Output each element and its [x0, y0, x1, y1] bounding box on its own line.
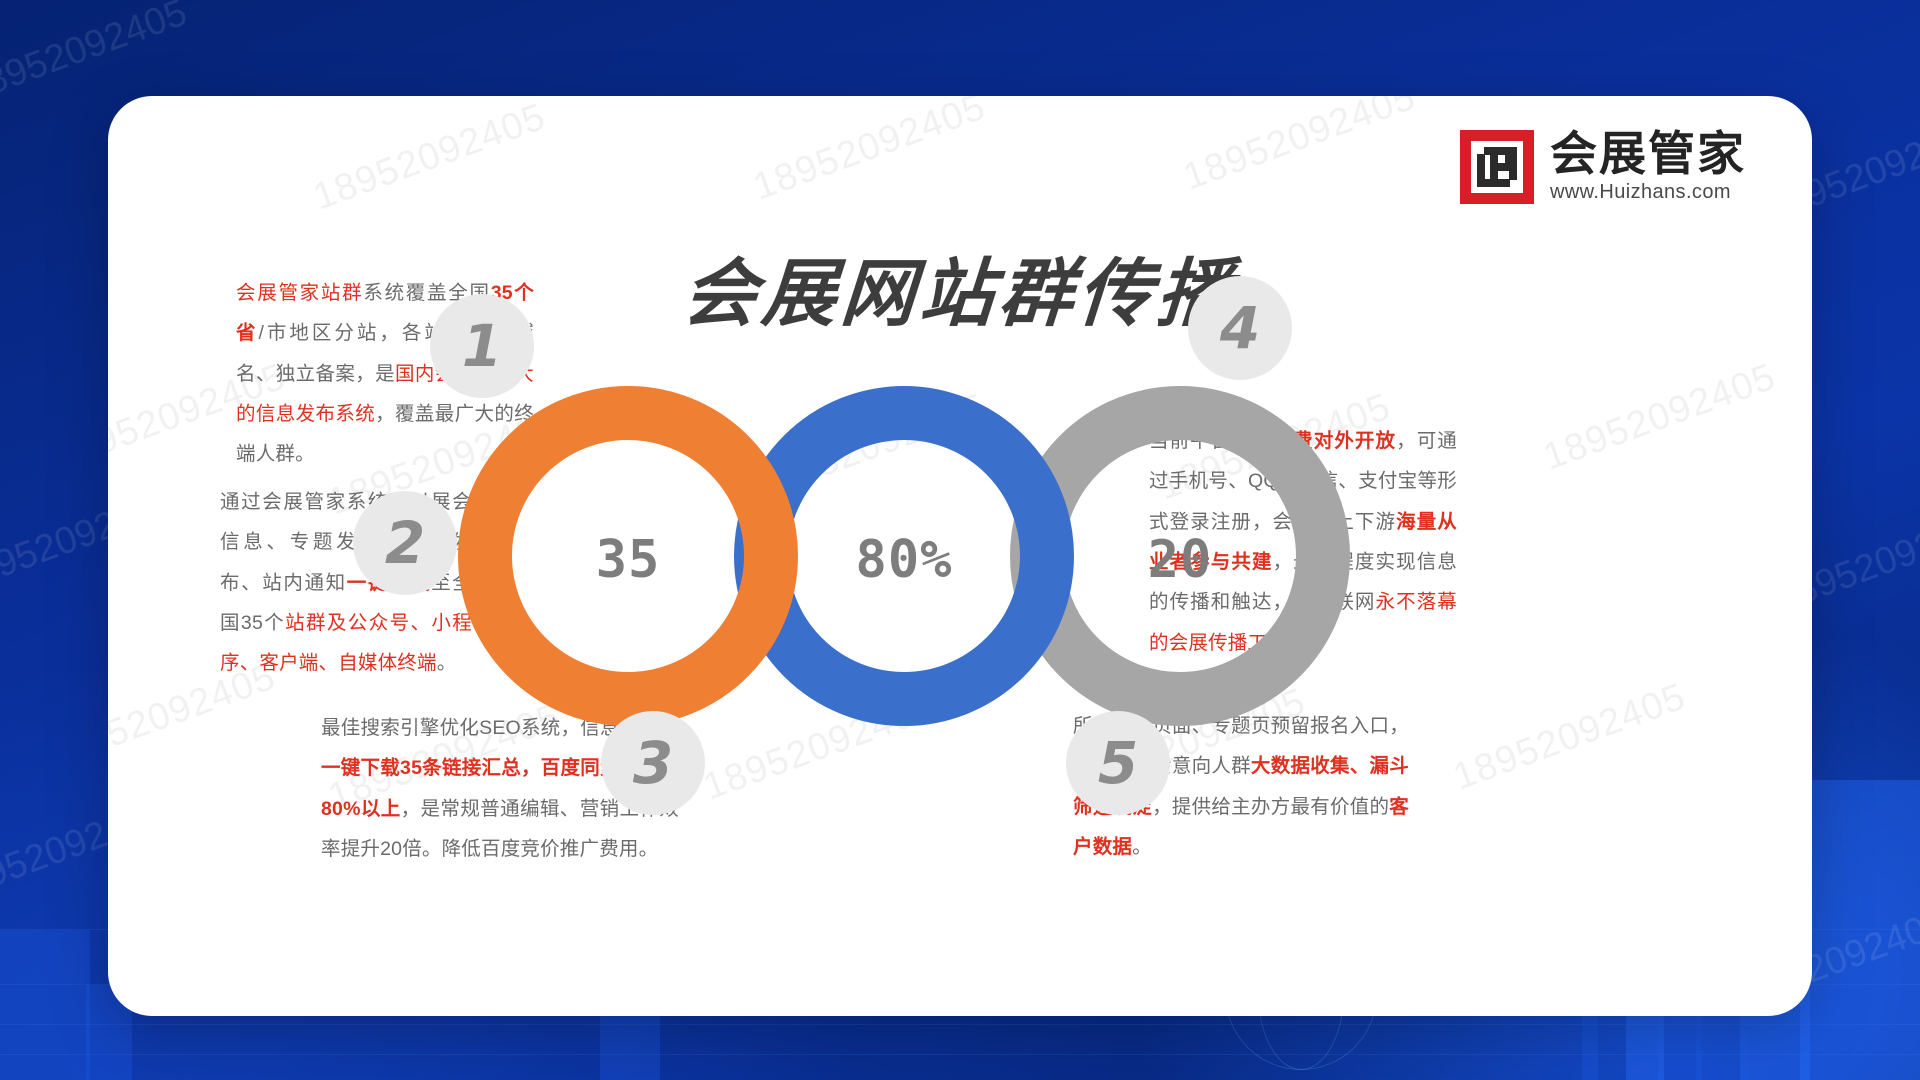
watermark: 18952092405 — [1538, 356, 1782, 480]
watermark: 18952092405 — [1448, 676, 1692, 800]
skyline-shape — [1800, 780, 1920, 1080]
skyline-shape — [0, 930, 90, 1080]
step-badge-5[interactable]: 5 — [1066, 711, 1170, 815]
ring-value-gray: 20 — [1064, 530, 1296, 590]
step-badge-1[interactable]: 1 — [430, 294, 534, 398]
logo-brand-name: 会展管家 — [1550, 130, 1746, 178]
logo-website-url: www.Huizhans.com — [1550, 181, 1746, 204]
ring-value-orange: 35 — [512, 530, 744, 590]
skyline-shape — [600, 1010, 660, 1080]
watermark: 18952092405 — [308, 96, 552, 219]
step-badge-2[interactable]: 2 — [353, 491, 457, 595]
brand-logo[interactable]: 会展管家 www.Huizhans.com — [1460, 130, 1746, 204]
huizhans-logo-icon — [1460, 130, 1534, 204]
watermark: 18952092405 — [0, 0, 193, 111]
watermark: 18952092405 — [748, 96, 992, 209]
watermark: 18952092405 — [1178, 96, 1422, 199]
infographic-card: 18952092405 18952092405 18952092405 1895… — [108, 96, 1812, 1016]
step-badge-3[interactable]: 3 — [601, 711, 705, 815]
ring-diagram: 35 80% 20 — [458, 386, 1268, 726]
step-badge-4[interactable]: 4 — [1188, 276, 1292, 380]
ring-value-blue: 80% — [788, 530, 1020, 590]
